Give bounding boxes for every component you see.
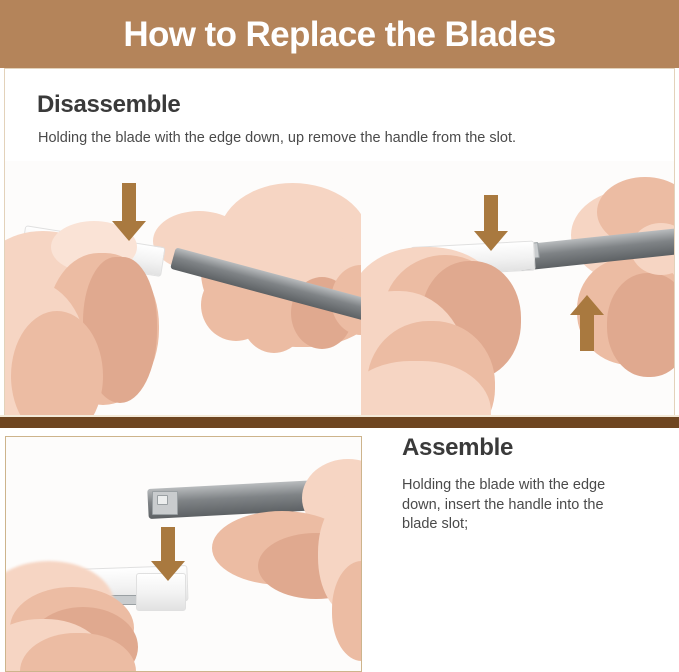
photo-disassemble-step-1 xyxy=(5,161,361,427)
page-title: How to Replace the Blades xyxy=(123,17,555,52)
header-banner: How to Replace the Blades xyxy=(0,0,679,68)
photo-assemble-step-1 xyxy=(5,436,362,672)
disassemble-description: Holding the blade with the edge down, up… xyxy=(38,129,658,149)
assemble-description: Holding the blade with the edge down, in… xyxy=(402,476,627,535)
assemble-text-block: Assemble Holding the blade with the edge… xyxy=(402,436,664,535)
disassemble-card: Disassemble Holding the blade with the e… xyxy=(4,68,675,428)
assemble-heading: Assemble xyxy=(402,436,664,460)
photo-disassemble-step-2 xyxy=(361,161,675,427)
disassemble-heading: Disassemble xyxy=(37,93,180,117)
separator-band xyxy=(0,417,679,428)
instruction-infographic: How to Replace the Blades Disassemble Ho… xyxy=(0,0,679,672)
disassemble-photo-strip xyxy=(5,161,675,427)
